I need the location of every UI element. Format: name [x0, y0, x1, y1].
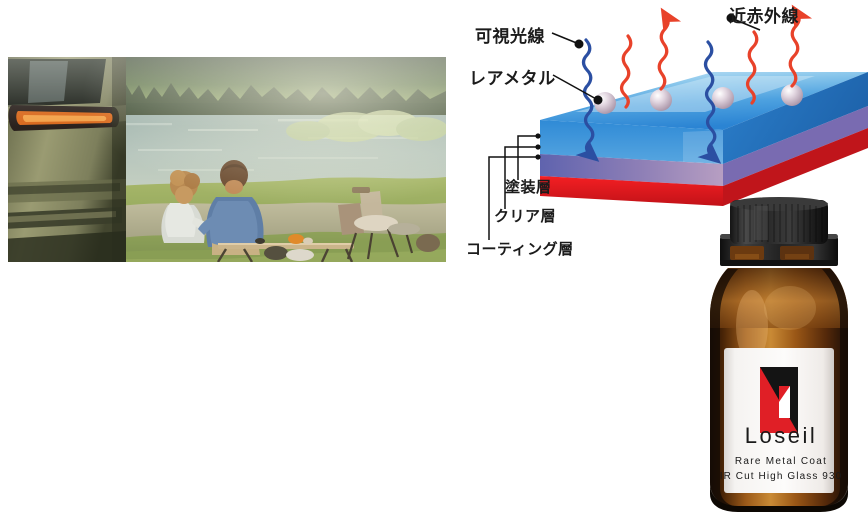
rare-metal-particle	[650, 89, 672, 111]
label-paint-layer: 塗装層	[505, 176, 552, 197]
bottle-cap	[730, 197, 828, 244]
loseil-product-bottle	[694, 196, 864, 515]
bottle-canvas	[694, 196, 864, 515]
label-coating-layer: コーティング層	[466, 238, 574, 259]
photo-haze	[8, 57, 446, 127]
brand-name: Loseil	[710, 423, 852, 449]
rare-metal-particle	[712, 87, 734, 109]
rare-metal-particle	[594, 92, 616, 114]
bracket-paint-layer	[518, 136, 538, 180]
product-descriptor-line-2: IR Cut High Glass 930	[706, 471, 856, 482]
label-visible-light: 可視光線	[475, 22, 545, 47]
leader-visible-light	[552, 33, 579, 44]
product-descriptor-line-1: Rare Metal Coat	[710, 456, 852, 467]
bracket-coating-layer	[489, 157, 538, 240]
photo-canvas	[8, 57, 446, 262]
label-clear-layer: クリア層	[494, 205, 556, 226]
label-near-infrared: 近赤外線	[729, 2, 799, 27]
ir-ray-outgoing-1	[659, 18, 668, 89]
slab-front-sheen	[683, 130, 723, 164]
label-rare-metal: レアメタル	[469, 64, 556, 89]
lakeside-camping-photo	[8, 57, 446, 262]
bottle-highlight-2	[764, 286, 816, 330]
